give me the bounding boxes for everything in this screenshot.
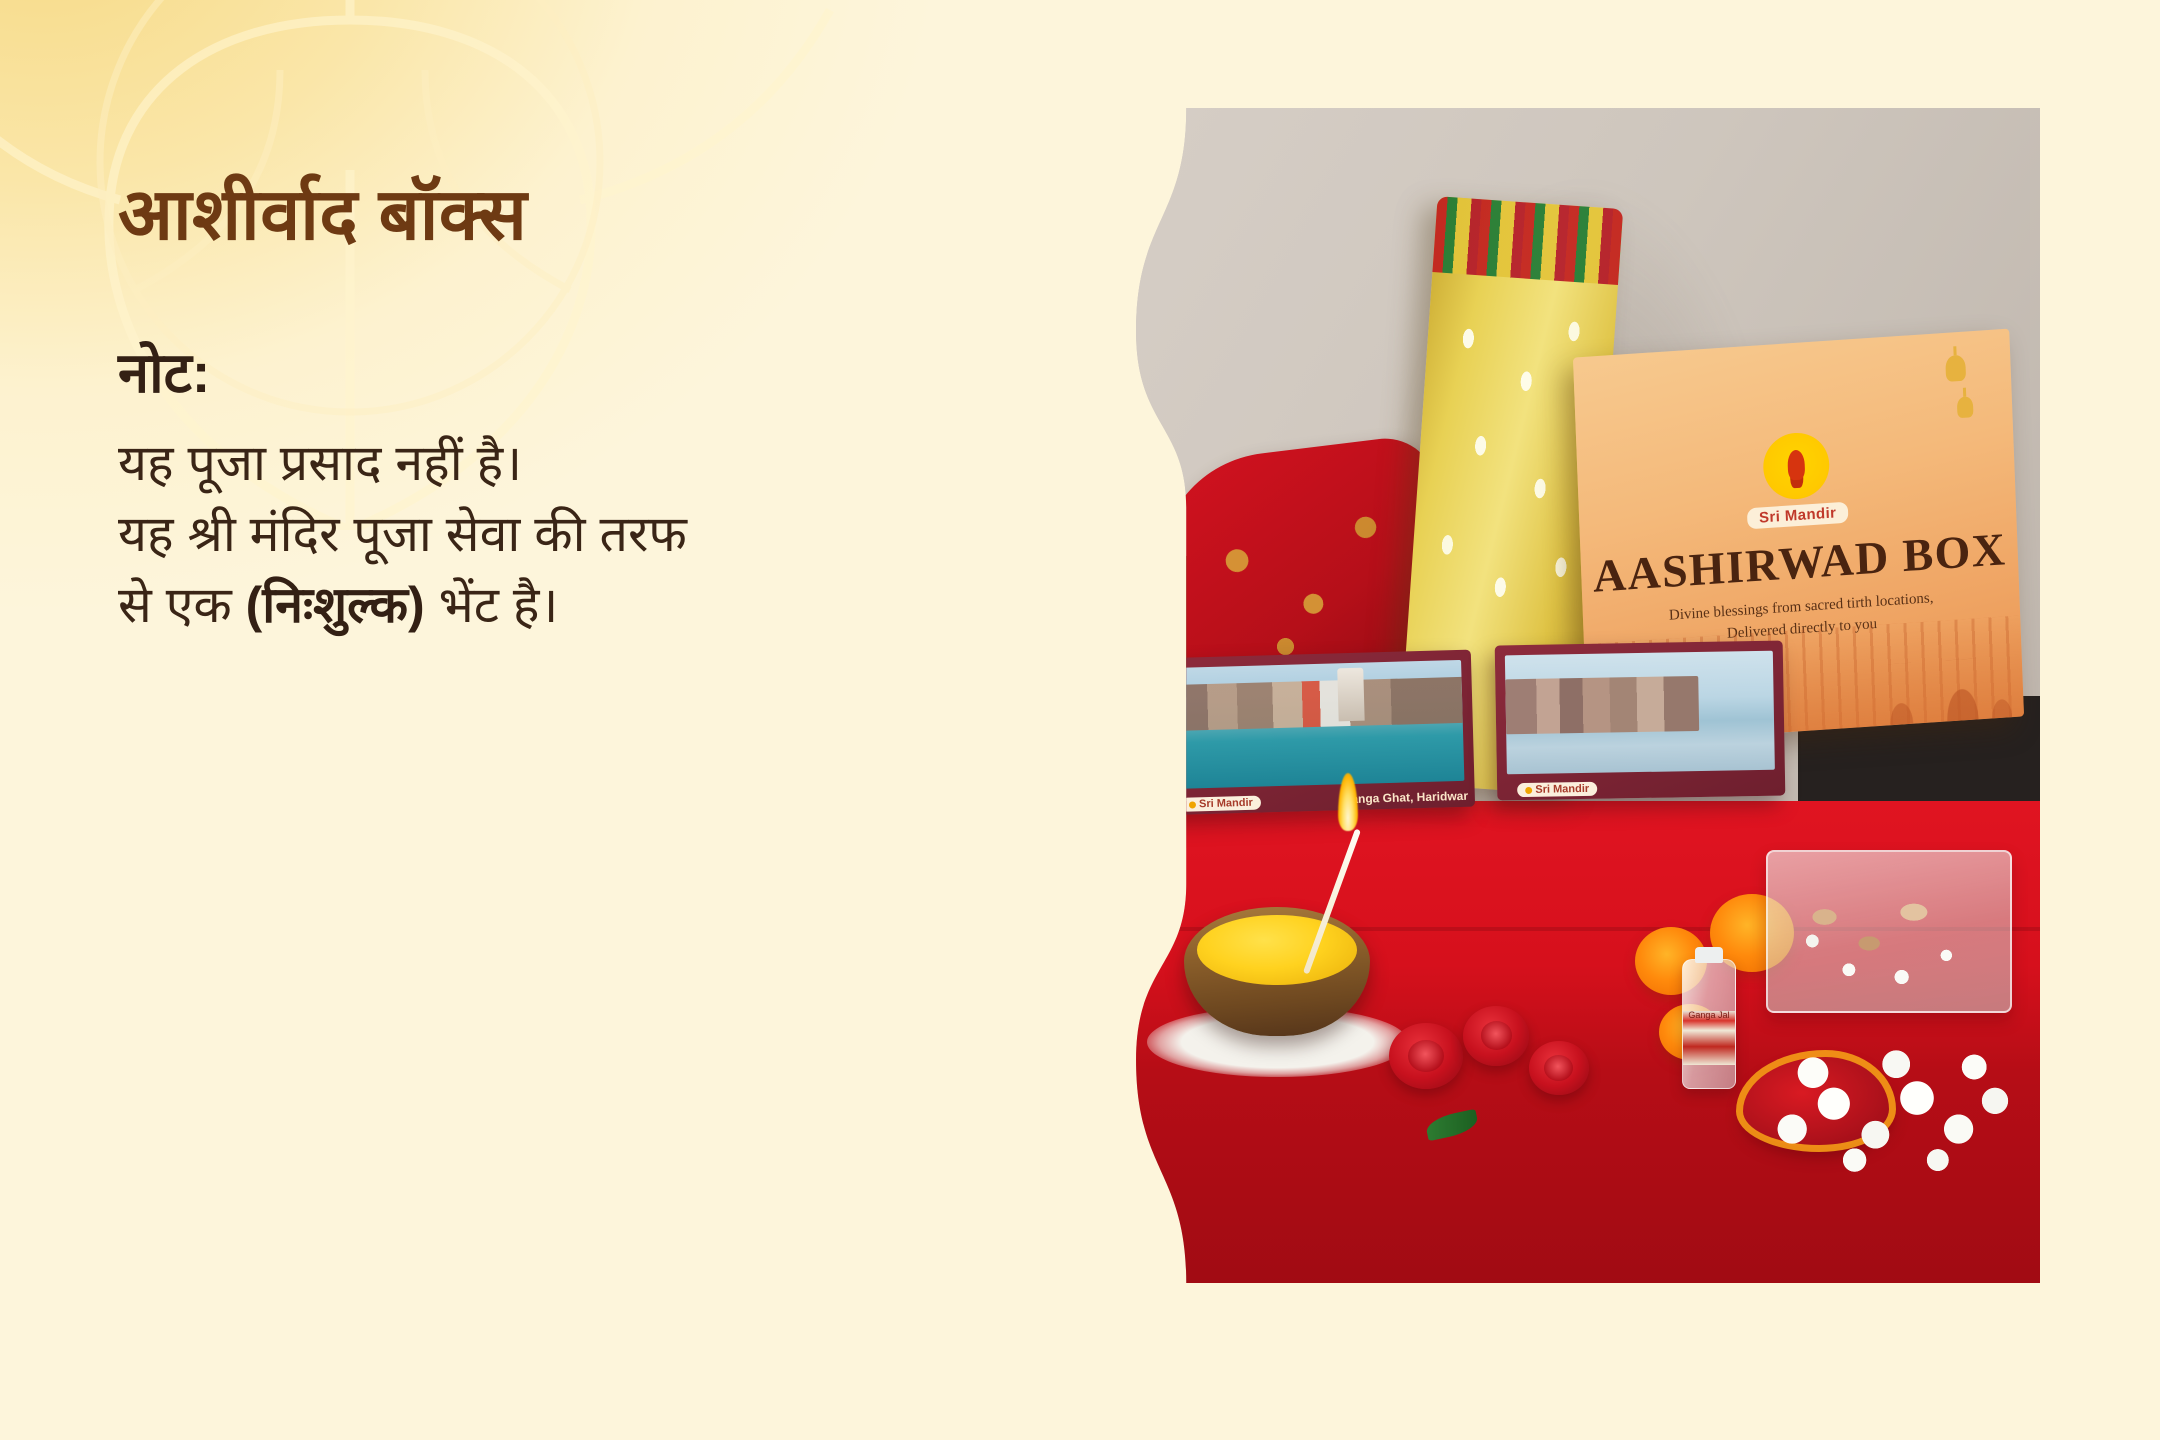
temple-bell-icon [1945,354,1974,435]
postcard-haridwar-image [1165,660,1464,790]
sri-mandir-logo-icon [1188,802,1195,809]
red-rose [1529,1041,1589,1095]
postcard-varanasi-badge: Sri Mandir [1517,781,1597,796]
product-box-title: AASHIRWAD BOX [1592,526,2007,599]
batasha-sugar-balls [1761,1036,2021,1177]
red-rose [1389,1023,1463,1089]
postcard-varanasi: Sri Mandir [1495,640,1786,800]
note-line-3-head: से एक [118,577,246,633]
gangajal-bottle: Ganga Jal [1682,959,1736,1089]
postcard-haridwar-caption: Ganga Ghat, Haridwar [1341,790,1467,808]
gangajal-bottle-label: Ganga Jal [1683,1011,1735,1065]
sri-mandir-logo-icon [1761,431,1829,501]
note-line-2: यह श्री मंदिर पूजा सेवा की तरफ [118,499,818,570]
postcard-varanasi-image [1505,650,1775,774]
note-line-3: से एक (निःशुल्क) भेंट है। [118,570,818,641]
free-tag: (निःशुल्क) [246,577,425,633]
postcard-haridwar-badge: Sri Mandir [1180,796,1260,812]
note-line-1: यह पूजा प्रसाद नहीं है। [118,428,818,499]
product-photo-frame: Sri Mandir AASHIRWAD BOX Divine blessing… [1110,108,2040,1283]
sri-mandir-logo-icon [1525,786,1532,793]
note-line-3-tail: भेंट है। [425,577,559,633]
red-rose [1463,1006,1529,1066]
dry-fruits-container [1766,850,2012,1013]
product-photo: Sri Mandir AASHIRWAD BOX Divine blessing… [1110,108,2040,1283]
page-title: आशीर्वाद बॉक्स [118,176,818,255]
tagline-line-1: Divine blessings from sacred tirth locat… [1668,590,1933,624]
brand-name: Sri Mandir [1746,502,1848,530]
postcard-haridwar: Sri Mandir Ganga Ghat, Haridwar [1154,650,1474,816]
banner-copy: आशीर्वाद बॉक्स नोट: यह पूजा प्रसाद नहीं … [118,176,818,641]
note-label: नोट: [118,341,818,405]
note-body: यह पूजा प्रसाद नहीं है। यह श्री मंदिर पू… [118,428,818,641]
aashirwad-box-banner: आशीर्वाद बॉक्स नोट: यह पूजा प्रसाद नहीं … [0,0,2160,1440]
